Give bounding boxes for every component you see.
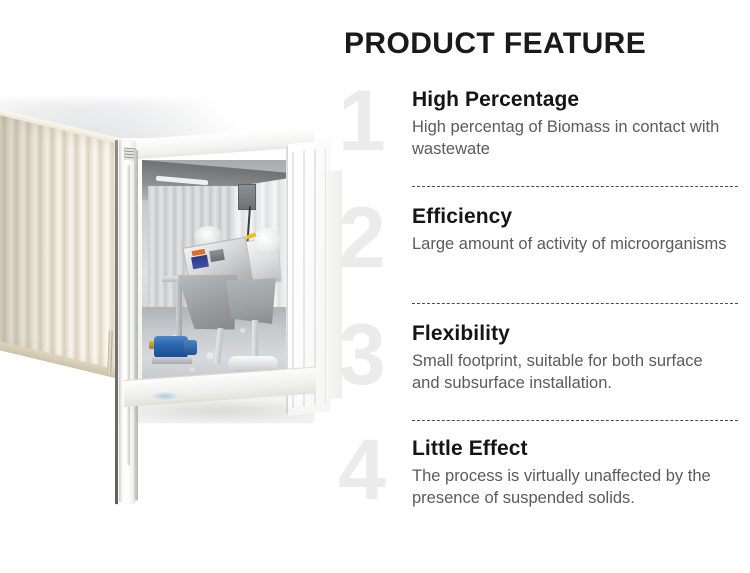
product-feature-page: PRODUCT FEATURE 1 High Percentage High p… (0, 0, 750, 573)
electrical-panel-box (238, 184, 256, 210)
machine-hopper-secondary (226, 278, 276, 324)
equipment-column-post (176, 280, 182, 342)
feature-heading-4: Little Effect (412, 437, 732, 462)
container-interior (142, 160, 290, 385)
pump-base-plate (152, 357, 192, 364)
left-door-edge (115, 140, 118, 504)
feature-number-1: 1 (338, 78, 386, 164)
feature-number-4: 4 (338, 427, 386, 513)
page-title: PRODUCT FEATURE (344, 27, 646, 61)
feature-divider-3 (412, 420, 738, 421)
feature-description-2: Large amount of activity of microorganis… (412, 233, 732, 255)
feature-description-3: Small footprint, suitable for both surfa… (412, 350, 732, 395)
feature-text-4: Little Effect The process is virtually u… (412, 437, 732, 509)
feature-text-3: Flexibility Small footprint, suitable fo… (412, 322, 732, 394)
pump-motor (154, 336, 188, 358)
product-image (0, 0, 345, 573)
container-ground-shadow (120, 400, 320, 422)
floor-water-spill (152, 392, 178, 400)
machine-wrapping-right (254, 228, 280, 254)
feature-description-4: The process is virtually unaffected by t… (412, 465, 732, 510)
left-door-hinge (134, 150, 138, 500)
feature-heading-2: Efficiency (412, 205, 732, 230)
feature-heading-3: Flexibility (412, 322, 732, 347)
feature-text-2: Efficiency Large amount of activity of m… (412, 205, 732, 255)
pump-motor-cap (184, 340, 197, 355)
feature-heading-1: High Percentage (412, 88, 732, 113)
feature-number-2: 2 (338, 195, 386, 281)
feature-divider-1 (412, 186, 738, 187)
feature-text-1: High Percentage High percentag of Biomas… (412, 88, 732, 160)
feature-divider-2 (412, 303, 738, 304)
feature-list-panel: PRODUCT FEATURE 1 High Percentage High p… (330, 0, 750, 573)
feature-description-1: High percentag of Biomass in contact wit… (412, 116, 732, 161)
feature-number-3: 3 (338, 312, 386, 398)
